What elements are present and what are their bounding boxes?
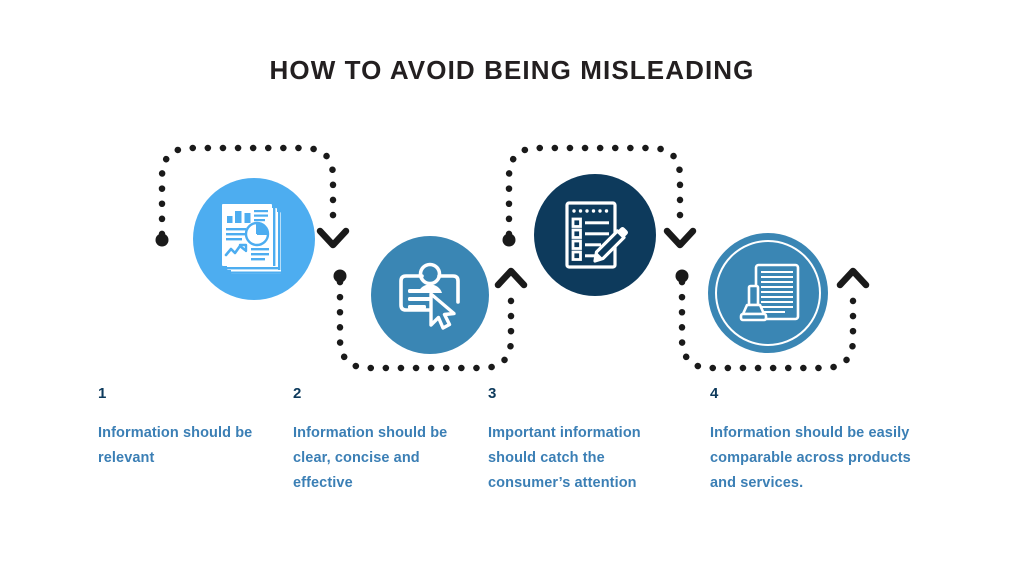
step-1-number: 1 <box>98 386 268 401</box>
connector-3-start-dot <box>503 234 516 247</box>
report-chart-document-icon <box>215 200 293 278</box>
checklist-pencil-icon <box>557 197 633 273</box>
step-2-block: 2 Information should be clear, concise a… <box>293 386 473 496</box>
step-3-number: 3 <box>488 386 678 401</box>
connector-3-arrow-down-icon <box>667 231 693 245</box>
page-title: HOW TO AVOID BEING MISLEADING <box>0 55 1024 86</box>
step-1-block: 1 Information should be relevant <box>98 386 268 471</box>
connector-2-arrow-up-icon <box>498 271 524 285</box>
step-1-label: Information should be relevant <box>98 421 268 471</box>
connector-4-start-dot <box>676 270 689 283</box>
step-2-number: 2 <box>293 386 473 401</box>
step-2-icon-circle[interactable] <box>371 236 489 354</box>
connector-1-arrow-down-icon <box>320 231 346 245</box>
step-4-block: 4 Information should be easily comparabl… <box>710 386 935 496</box>
step-3-block: 3 Important information should catch the… <box>488 386 678 496</box>
step-1-icon-circle[interactable] <box>193 178 315 300</box>
step-4-number: 4 <box>710 386 935 401</box>
profile-card-cursor-icon <box>393 258 467 332</box>
connector-2-start-dot <box>334 270 347 283</box>
step-3-label: Important information should catch the c… <box>488 421 678 496</box>
connector-4-arrow-up-icon <box>840 271 866 285</box>
stamped-document-icon <box>738 262 804 328</box>
connector-1-start-dot <box>156 234 169 247</box>
step-3-icon-circle[interactable] <box>534 174 656 296</box>
step-2-label: Information should be clear, concise and… <box>293 421 473 496</box>
step-4-label: Information should be easily comparable … <box>710 421 935 496</box>
step-4-icon-circle[interactable] <box>708 233 828 353</box>
